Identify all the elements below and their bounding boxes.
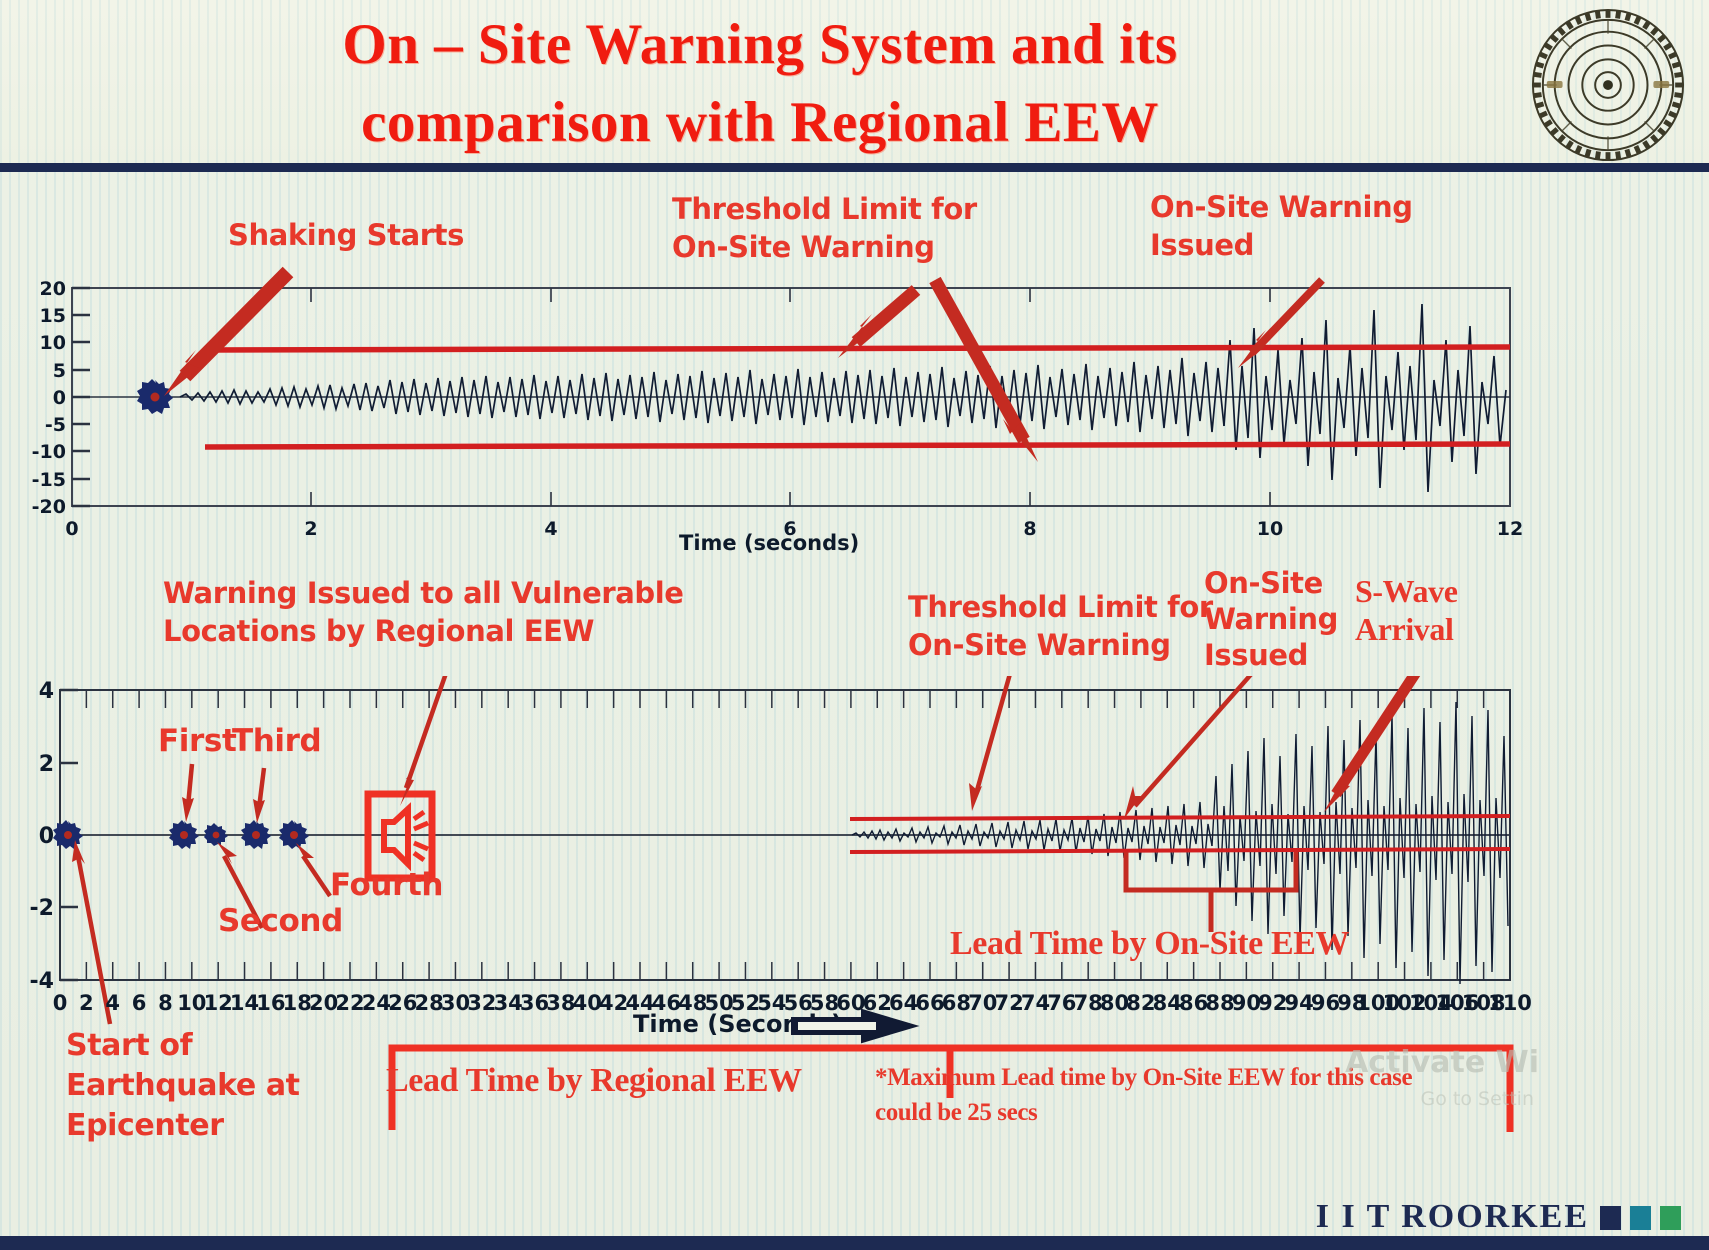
bottom-xtick-label: 8 <box>158 991 173 1015</box>
shaking-start-marker <box>137 379 173 414</box>
bottom-xtick-label: 32 <box>467 991 496 1015</box>
bottom-xtick-label: 26 <box>388 991 417 1015</box>
brand-square-navy <box>1600 1206 1621 1230</box>
top-chart-xaxis-label: Time (seconds) <box>679 531 859 555</box>
bottom-xtick-label: 80 <box>1100 991 1129 1015</box>
arrow-fourth <box>296 843 330 896</box>
event-marker-first <box>169 820 199 849</box>
arrow-onsite-warning-issued-bottom <box>1124 676 1269 819</box>
event-marker-second <box>204 823 228 846</box>
bottom-xtick-label: 36 <box>520 991 549 1015</box>
svg-text:2: 2 <box>39 752 54 777</box>
footer-band <box>0 1236 1709 1250</box>
bottom-xtick-label: 34 <box>494 991 523 1015</box>
annotation-fourth: Fourth <box>330 866 443 904</box>
annotation-onsite-warning-issued-top: On-Site Warning Issued <box>1150 188 1413 264</box>
bottom-xtick-label: 0 <box>53 991 68 1015</box>
bottom-xtick-label: 72 <box>994 991 1023 1015</box>
activate-windows-watermark-sub: Go to Settin <box>1421 1088 1534 1110</box>
arrow-threshold-limit-bottom <box>969 676 1015 811</box>
annotation-footnote-max-lead-time: *Maximum Lead time by On-Site EEW for th… <box>875 1060 1412 1130</box>
bottom-xtick-label: 78 <box>1074 991 1103 1015</box>
activate-windows-watermark: Activate Wi <box>1345 1045 1539 1080</box>
event-marker-epicenter <box>53 820 83 849</box>
svg-text:-5: -5 <box>45 414 66 436</box>
page-title-line2: comparison with Regional EEW <box>120 84 1400 162</box>
annotation-threshold-limit-bottom: Threshold Limit for On-Site Warning <box>908 588 1213 664</box>
annotation-regional-warning: Warning Issued to all Vulnerable Locatio… <box>163 574 684 650</box>
annotation-lead-time-onsite: Lead Time by On-Site EEW <box>950 925 1349 963</box>
annotation-second: Second <box>218 902 343 940</box>
iit-roorkee-seal-logo <box>1529 6 1687 164</box>
slide-header: On – Site Warning System and its compari… <box>0 0 1709 172</box>
svg-text:4: 4 <box>544 518 557 540</box>
bottom-xtick-label: 30 <box>441 991 470 1015</box>
bottom-xtick-label: 2 <box>79 991 94 1015</box>
slide-canvas: On – Site Warning System and its compari… <box>0 0 1709 1250</box>
svg-text:-10: -10 <box>32 441 66 463</box>
bottom-xtick-label: 24 <box>362 991 391 1015</box>
bottom-xtick-label: 22 <box>335 991 364 1015</box>
bottom-xtick-label: 94 <box>1284 991 1313 1015</box>
svg-text:12: 12 <box>1497 518 1523 540</box>
bottom-xtick-label: 82 <box>1126 991 1155 1015</box>
annotation-s-wave-arrival: S-Wave Arrival <box>1355 572 1458 648</box>
bottom-xtick-label: 18 <box>283 991 312 1015</box>
bottom-xtick-label: 38 <box>546 991 575 1015</box>
bottom-xtick-label: 84 <box>1153 991 1182 1015</box>
bottom-xtick-label: 40 <box>573 991 602 1015</box>
bottom-xtick-label: 110 <box>1488 991 1532 1015</box>
brand-square-green <box>1660 1206 1681 1230</box>
bottom-xtick-label: 4 <box>105 991 120 1015</box>
arrow-third <box>253 768 265 823</box>
event-marker-third <box>241 820 271 849</box>
bottom-xtick-label: 12 <box>204 991 233 1015</box>
svg-text:-20: -20 <box>32 496 66 518</box>
svg-text:2: 2 <box>304 518 317 540</box>
svg-text:15: 15 <box>40 305 66 327</box>
shaking-starts-arrow <box>164 272 288 396</box>
bottom-xtick-label: 86 <box>1179 991 1208 1015</box>
svg-text:0: 0 <box>65 518 78 540</box>
svg-text:-2: -2 <box>30 896 54 921</box>
page-title-line1: On – Site Warning System and its <box>120 6 1400 84</box>
annotation-third: Third <box>232 722 321 760</box>
iit-roorkee-wordmark: I I T ROORKEE <box>1316 1198 1589 1236</box>
annotation-onsite-warning-issued-bottom: On-Site Warning Issued <box>1204 565 1338 673</box>
svg-text:-15: -15 <box>32 469 66 491</box>
bottom-xtick-label: 20 <box>309 991 338 1015</box>
bottom-xtick-label: 96 <box>1311 991 1340 1015</box>
svg-text:-4: -4 <box>30 969 54 994</box>
bottom-xtick-label: 42 <box>599 991 628 1015</box>
brand-square-teal <box>1630 1206 1651 1230</box>
arrow-regional-warning <box>400 676 452 806</box>
svg-text:10: 10 <box>40 332 66 354</box>
bottom-xtick-label: 90 <box>1232 991 1261 1015</box>
annotation-shaking-starts: Shaking Starts <box>228 216 464 254</box>
annotation-threshold-limit-top: Threshold Limit for On-Site Warning <box>672 190 977 266</box>
svg-text:0: 0 <box>39 824 54 849</box>
annotation-first: First <box>158 722 236 760</box>
svg-text:5: 5 <box>53 360 66 382</box>
onsite-warning-arrow-top <box>935 280 1038 462</box>
bottom-xtick-label: 92 <box>1258 991 1287 1015</box>
svg-text:4: 4 <box>39 679 54 704</box>
bottom-xtick-label: 16 <box>256 991 285 1015</box>
bottom-xtick-label: 88 <box>1205 991 1234 1015</box>
bottom-xtick-label: 76 <box>1047 991 1076 1015</box>
event-marker-fourth <box>279 820 309 849</box>
page-title: On – Site Warning System and its compari… <box>120 6 1400 162</box>
bottom-xtick-label: 28 <box>414 991 443 1015</box>
onsite-warning-issued-arrow <box>1238 280 1322 368</box>
bottom-xtick-label: 14 <box>230 991 259 1015</box>
svg-text:8: 8 <box>1023 518 1036 540</box>
svg-text:20: 20 <box>40 278 66 300</box>
bottom-xtick-label: 6 <box>132 991 147 1015</box>
annotation-lead-time-regional: Lead Time by Regional EEW <box>386 1062 802 1100</box>
arrow-first <box>182 764 194 822</box>
svg-text:0: 0 <box>53 387 66 409</box>
svg-text:10: 10 <box>1257 518 1283 540</box>
bottom-xtick-label: 10 <box>177 991 206 1015</box>
bottom-xtick-label: 68 <box>942 991 971 1015</box>
bottom-xtick-label: 70 <box>968 991 997 1015</box>
bottom-xtick-label: 74 <box>1021 991 1050 1015</box>
